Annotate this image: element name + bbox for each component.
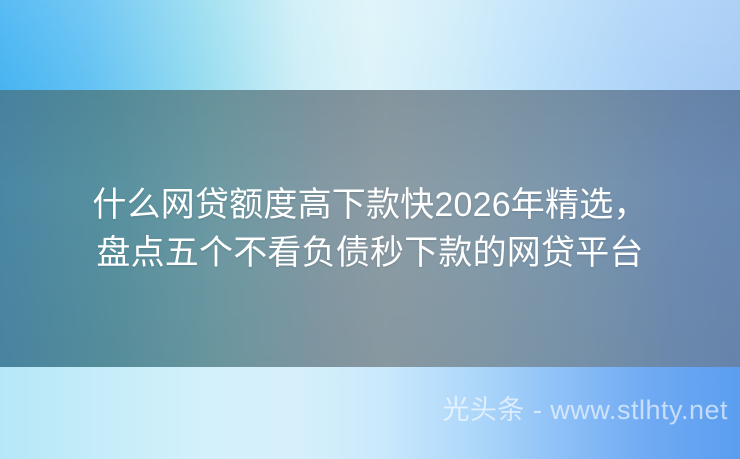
page-title-line-2: 盘点五个不看负债秒下款的网贷平台 [18,229,722,277]
title-band: 什么网贷额度高下款快2026年精选， 盘点五个不看负债秒下款的网贷平台 [0,90,740,367]
article-cover-banner: 什么网贷额度高下款快2026年精选， 盘点五个不看负债秒下款的网贷平台 光头条 … [0,0,740,459]
watermark-band: 光头条 - www.stlhty.net [0,367,740,459]
page-title: 什么网贷额度高下款快2026年精选， 盘点五个不看负债秒下款的网贷平台 [0,181,740,277]
top-gradient-band [0,0,740,90]
site-watermark: 光头条 - www.stlhty.net [442,397,740,430]
page-title-line-1: 什么网贷额度高下款快2026年精选， [18,181,722,229]
